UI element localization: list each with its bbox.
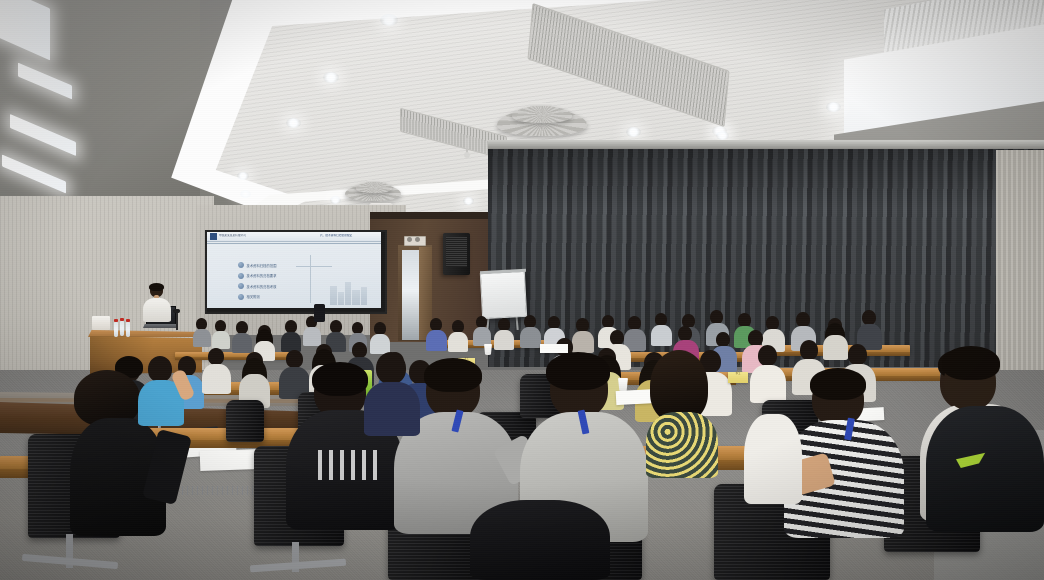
handout-paper [540,344,568,353]
water-bottle [126,319,130,337]
bullet-dot-icon [238,294,244,300]
bullet-dot-icon [238,283,244,289]
tissue-box [92,316,110,330]
name-card-label: 李工 [728,372,748,375]
flipchart-board[interactable] [480,271,527,319]
slide-bullet-item: 相关附则 [238,294,358,300]
slide-bullet-label: 相关附则 [247,294,260,299]
pendant-knob [464,152,470,158]
downlight-icon [237,172,249,180]
open-doorway [402,250,419,340]
emergency-light-lamp [415,237,420,242]
downlight-icon [463,197,474,205]
presenter-laptop-base [143,324,178,328]
downlight-icon [330,196,341,204]
wall-trim [370,212,490,219]
slide-bullet-label: 技术资料的归档考核 [247,284,277,289]
handout-paper [200,449,259,471]
paper-cup [484,344,492,355]
bullet-dot-icon [238,262,244,268]
speaker-grille [446,237,467,267]
water-bottle [114,319,118,337]
microphone-icon [173,309,180,313]
slide-bullet-item: 技术资料的归档要求 [238,273,358,279]
downlight-icon [626,127,641,137]
curtain-rail [488,140,1044,149]
slide-bullet-item: 技术资料归档的范围 [238,262,358,268]
seminar-room-photo: 中国某某某某有限公司 六、技术资料归档管理规定 技术资料归档的范围 技术资料的归… [0,0,1044,580]
bullet-dot-icon [238,273,244,279]
tshirt-graphic-print [318,450,380,480]
name-card: 李工 [728,372,748,383]
paper-cup [618,378,628,391]
slide-bullet-label: 技术资料归档的范围 [247,263,277,268]
slide-section-title: 六、技术资料归档管理规定 [320,234,380,237]
slide-bullet-list: 技术资料归档的范围 技术资料的归档要求 技术资料的归档考核 相关附则 [238,262,358,304]
downlight-icon [380,14,398,26]
microphone-stand [176,312,178,330]
slide-bullet-label: 技术资料的归档要求 [247,273,277,278]
downlight-icon [323,72,339,83]
downlight-icon [826,102,841,112]
slide-divider [207,243,381,244]
downlight-icon [240,190,251,198]
slide-bullet-item: 技术资料的归档考核 [238,283,358,289]
company-logo [210,233,217,240]
downlight-icon [716,131,729,140]
slide-company-name: 中国某某某某有限公司 [219,234,293,237]
emergency-light-lamp [407,237,412,242]
downlight-icon [286,118,301,128]
slide-skyline-graphic [361,287,367,305]
right-wall-panel [996,150,1044,390]
water-bottle [120,318,124,336]
